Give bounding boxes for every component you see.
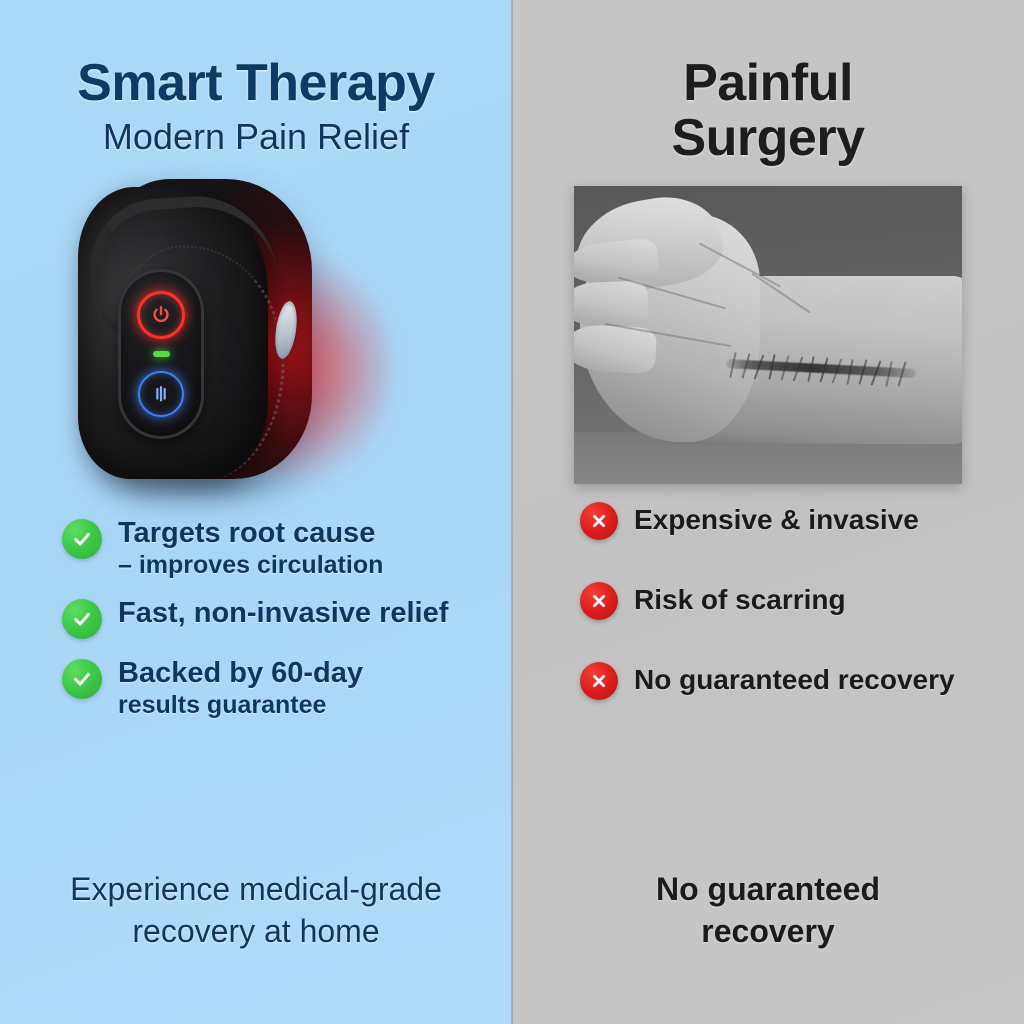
- power-icon[interactable]: [137, 291, 185, 339]
- list-item-text: Expensive & invasive: [634, 504, 919, 536]
- cross-circle-icon: [580, 662, 618, 700]
- surgical-scar-photo: [574, 186, 962, 484]
- panel-divider: [511, 0, 513, 1024]
- left-footer: Experience medical-grade recovery at hom…: [0, 868, 512, 1024]
- left-subtitle: Modern Pain Relief: [0, 117, 512, 157]
- left-footer-line2: recovery at home: [40, 910, 472, 952]
- list-item-text: Risk of scarring: [634, 584, 846, 616]
- right-title: Painful Surgery: [512, 56, 1024, 166]
- list-item: Expensive & invasive: [580, 500, 998, 540]
- finger: [574, 281, 649, 328]
- list-item: Backed by 60-day results guarantee: [62, 657, 486, 720]
- list-item: Risk of scarring: [580, 580, 998, 620]
- led-indicator: [153, 351, 170, 357]
- right-heading-block: Painful Surgery: [512, 0, 1024, 166]
- list-item-main: Backed by 60-day: [118, 657, 363, 689]
- list-item-text: Backed by 60-day results guarantee: [118, 657, 363, 720]
- vibration-waves-icon[interactable]: [138, 371, 184, 417]
- list-item-text: Targets root cause – improves circulatio…: [118, 517, 383, 580]
- left-title: Smart Therapy: [0, 56, 512, 111]
- list-item: Fast, non-invasive relief: [62, 597, 486, 639]
- right-panel-painful-surgery: Painful Surgery: [512, 0, 1024, 1024]
- left-panel-smart-therapy: Smart Therapy Modern Pain Relief: [0, 0, 512, 1024]
- product-image: [46, 171, 466, 501]
- left-benefits-list: Targets root cause – improves circulatio…: [0, 517, 512, 738]
- cross-circle-icon: [580, 502, 618, 540]
- cross-circle-icon: [580, 582, 618, 620]
- right-footer-line1: No guaranteed: [552, 868, 984, 910]
- check-circle-icon: [62, 599, 102, 639]
- right-footer: No guaranteed recovery: [512, 868, 1024, 1024]
- list-item-main: Fast, non-invasive relief: [118, 597, 448, 629]
- list-item-sub: – improves circulation: [118, 551, 383, 580]
- right-footer-line2: recovery: [552, 910, 984, 952]
- list-item-sub: results guarantee: [118, 691, 363, 720]
- right-title-line1: Painful: [683, 54, 853, 112]
- list-item: No guaranteed recovery: [580, 660, 998, 700]
- device-control-panel[interactable]: [118, 269, 204, 439]
- check-circle-icon: [62, 659, 102, 699]
- list-item-text: Fast, non-invasive relief: [118, 597, 448, 630]
- left-footer-line1: Experience medical-grade: [40, 868, 472, 910]
- comparison-infographic: Smart Therapy Modern Pain Relief: [0, 0, 1024, 1024]
- list-item-text: No guaranteed recovery: [634, 664, 955, 696]
- right-title-line2: Surgery: [512, 111, 1024, 166]
- smart-therapy-brace-device: [64, 173, 344, 493]
- right-drawbacks-list: Expensive & invasive Risk of scarring: [512, 500, 1024, 740]
- check-circle-icon: [62, 519, 102, 559]
- left-heading-block: Smart Therapy Modern Pain Relief: [0, 0, 512, 157]
- list-item-main: Targets root cause: [118, 517, 375, 549]
- list-item: Targets root cause – improves circulatio…: [62, 517, 486, 580]
